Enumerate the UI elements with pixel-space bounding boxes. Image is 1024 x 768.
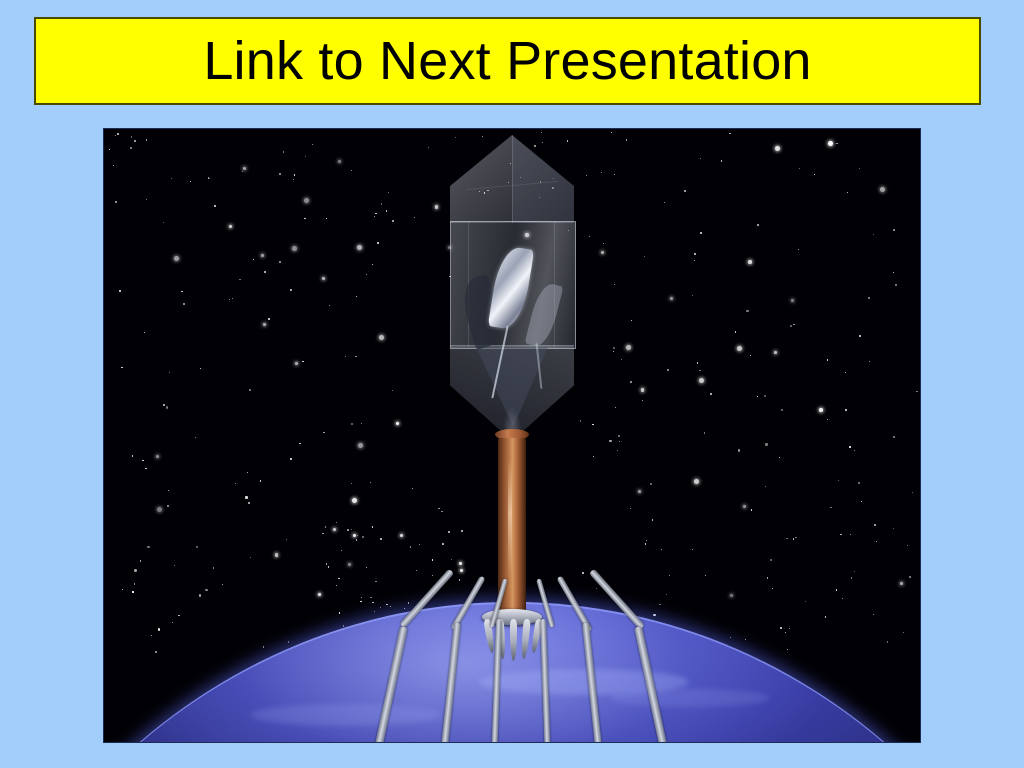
star: [765, 486, 766, 487]
phage-image[interactable]: [103, 128, 921, 743]
star: [586, 175, 587, 176]
star: [377, 242, 379, 244]
star: [842, 598, 843, 599]
star: [288, 641, 289, 642]
star: [646, 540, 647, 541]
star: [362, 536, 364, 538]
star: [356, 296, 357, 297]
star: [461, 530, 463, 532]
star: [907, 545, 908, 546]
star: [205, 589, 207, 591]
star: [115, 201, 117, 203]
star: [448, 531, 450, 533]
star: [268, 318, 270, 320]
star: [370, 597, 372, 599]
star: [242, 171, 243, 172]
star: [181, 291, 182, 292]
star: [428, 147, 429, 148]
star: [336, 585, 338, 587]
star: [328, 566, 330, 568]
star: [659, 604, 660, 605]
star: [396, 422, 399, 425]
star: [873, 614, 874, 615]
star: [869, 361, 870, 362]
star: [790, 325, 792, 327]
star: [664, 202, 665, 203]
star: [347, 529, 349, 531]
star: [361, 597, 363, 599]
star: [694, 479, 699, 484]
star: [171, 178, 172, 179]
star: [357, 245, 362, 250]
star: [596, 588, 597, 589]
star: [360, 601, 362, 603]
star: [912, 492, 913, 493]
star: [850, 534, 851, 535]
star: [174, 565, 175, 566]
star: [751, 509, 752, 510]
star: [767, 577, 768, 578]
star: [214, 205, 215, 206]
star: [338, 578, 340, 580]
star: [859, 335, 861, 337]
star: [825, 616, 826, 617]
star: [200, 368, 201, 369]
star: [617, 450, 618, 451]
star: [312, 144, 313, 145]
star: [386, 210, 387, 211]
star: [435, 205, 438, 208]
star: [861, 501, 862, 502]
star: [667, 369, 669, 371]
star: [293, 179, 294, 180]
star: [208, 177, 209, 178]
star: [750, 355, 751, 356]
star: [366, 274, 367, 275]
star: [626, 345, 631, 350]
star: [661, 549, 662, 550]
star: [167, 505, 169, 507]
star: [582, 572, 583, 573]
star: [374, 216, 375, 217]
star: [147, 546, 149, 548]
star: [145, 468, 146, 469]
star: [353, 534, 356, 537]
star: [764, 395, 766, 397]
star: [830, 507, 831, 508]
star: [793, 538, 794, 539]
star: [743, 505, 746, 508]
star: [134, 140, 136, 142]
star: [115, 135, 116, 136]
star: [326, 563, 328, 565]
star: [243, 167, 246, 170]
star: [836, 143, 837, 144]
star: [380, 607, 382, 609]
star: [589, 236, 590, 237]
star: [845, 409, 847, 411]
star: [386, 604, 388, 606]
star: [318, 593, 321, 596]
star: [705, 575, 706, 576]
star: [614, 284, 615, 285]
star: [229, 225, 232, 228]
star: [641, 388, 644, 391]
star: [352, 498, 357, 503]
star: [873, 234, 874, 235]
star: [355, 356, 356, 357]
star: [828, 141, 833, 146]
star: [132, 455, 133, 456]
star: [372, 602, 374, 604]
star: [432, 559, 434, 561]
star: [459, 579, 461, 581]
star: [827, 359, 828, 360]
star: [868, 297, 870, 299]
star: [895, 284, 897, 286]
star: [704, 432, 705, 433]
star: [348, 563, 351, 566]
star: [168, 490, 169, 491]
star: [630, 381, 632, 383]
star: [903, 632, 904, 633]
star: [694, 253, 696, 255]
star: [263, 646, 264, 647]
star: [404, 608, 406, 610]
star: [213, 567, 214, 568]
star: [264, 271, 266, 273]
star: [279, 261, 281, 263]
star: [774, 351, 777, 354]
star: [615, 407, 616, 408]
star: [748, 260, 751, 263]
star: [322, 277, 325, 280]
star: [611, 132, 612, 133]
capsid-edge: [450, 345, 574, 346]
star: [805, 601, 806, 602]
star: [195, 437, 196, 438]
star: [130, 147, 132, 149]
star: [757, 224, 759, 226]
star: [305, 156, 306, 157]
star: [366, 567, 368, 569]
star: [121, 367, 122, 368]
star: [874, 524, 875, 525]
star: [887, 641, 888, 642]
star: [183, 303, 185, 305]
star: [609, 440, 611, 442]
star: [374, 611, 376, 613]
star: [333, 528, 336, 531]
star: [279, 173, 281, 175]
star: [229, 299, 230, 300]
star: [642, 400, 643, 401]
star: [438, 508, 439, 509]
star: [372, 526, 374, 528]
star: [410, 546, 412, 548]
capsid-head: [450, 135, 574, 441]
star: [119, 290, 121, 292]
star: [653, 614, 655, 616]
star: [351, 529, 353, 531]
star: [699, 370, 700, 371]
star: [849, 446, 850, 447]
star: [155, 651, 157, 653]
star: [416, 570, 417, 571]
star: [190, 181, 191, 182]
star: [694, 260, 695, 261]
star: [700, 232, 702, 234]
star: [286, 539, 287, 540]
star: [144, 332, 145, 333]
star: [541, 132, 542, 133]
star: [893, 272, 894, 273]
star: [323, 432, 324, 433]
star: [601, 251, 604, 254]
star: [419, 544, 421, 546]
star: [854, 571, 855, 572]
star: [146, 199, 147, 200]
star: [735, 331, 736, 332]
star: [196, 546, 198, 548]
capsid-top-shade: [512, 135, 574, 223]
star: [109, 149, 110, 150]
star: [770, 559, 772, 561]
planet-streak: [251, 704, 441, 726]
star: [666, 594, 667, 595]
star: [357, 535, 359, 537]
star: [793, 324, 794, 325]
star: [893, 436, 895, 438]
star: [593, 456, 594, 457]
star: [787, 649, 788, 650]
star: [322, 533, 324, 535]
star: [836, 589, 837, 590]
star: [795, 537, 796, 538]
tail-sheath-highlight: [508, 459, 512, 579]
star: [166, 406, 168, 408]
star: [441, 511, 442, 512]
star: [847, 192, 848, 193]
star: [283, 151, 284, 152]
star: [621, 359, 622, 360]
star: [779, 457, 780, 458]
star: [781, 409, 783, 411]
star: [134, 583, 135, 584]
star: [249, 389, 251, 391]
star: [738, 449, 740, 451]
star: [381, 203, 382, 204]
star: [172, 622, 173, 623]
star: [329, 305, 330, 306]
star: [692, 295, 693, 296]
star: [618, 435, 620, 437]
star: [326, 218, 327, 219]
star: [650, 483, 652, 485]
star: [131, 136, 132, 137]
star: [631, 320, 632, 321]
title-banner[interactable]: Link to Next Presentation: [34, 17, 981, 105]
star: [845, 372, 846, 373]
star: [799, 168, 800, 169]
star: [721, 160, 722, 161]
star: [113, 165, 114, 166]
star: [375, 581, 377, 583]
star: [232, 298, 233, 299]
star: [757, 396, 758, 397]
star: [339, 612, 341, 614]
star: [158, 628, 160, 630]
star: [253, 259, 254, 260]
star: [638, 490, 641, 493]
star: [858, 482, 860, 484]
star: [275, 553, 278, 556]
star: [372, 264, 373, 265]
star: [156, 455, 159, 458]
star: [351, 423, 353, 425]
star: [880, 187, 885, 192]
star: [684, 190, 685, 191]
star: [370, 482, 371, 483]
star: [290, 458, 291, 459]
star: [248, 502, 250, 504]
star: [730, 637, 731, 638]
star: [414, 217, 415, 218]
star: [670, 297, 673, 300]
star: [789, 628, 790, 629]
star: [900, 582, 903, 585]
star: [151, 635, 152, 636]
star: [669, 575, 670, 576]
star: [876, 541, 877, 542]
star: [619, 441, 620, 442]
star: [361, 423, 362, 424]
star: [916, 391, 917, 392]
star: [786, 538, 787, 539]
star: [697, 362, 698, 363]
star: [798, 249, 799, 250]
star: [263, 323, 266, 326]
star: [765, 443, 767, 445]
star: [460, 569, 463, 572]
star: [772, 588, 773, 589]
star: [851, 577, 852, 578]
star: [626, 139, 627, 140]
star: [601, 172, 602, 173]
star: [827, 419, 828, 420]
star: [652, 519, 653, 520]
star: [299, 443, 300, 444]
star: [644, 256, 645, 257]
slide-canvas: Link to Next Presentation: [0, 0, 1024, 768]
star: [630, 508, 631, 509]
star: [247, 472, 248, 473]
star: [854, 450, 855, 451]
star: [400, 534, 403, 537]
star: [580, 420, 581, 421]
star: [178, 615, 179, 616]
star: [442, 543, 444, 545]
star: [451, 559, 453, 561]
star: [261, 254, 264, 257]
capsid-edge: [450, 221, 574, 222]
star: [295, 362, 298, 365]
star: [785, 632, 786, 633]
star: [325, 526, 327, 528]
star: [775, 146, 780, 151]
star: [132, 591, 133, 592]
star: [392, 390, 393, 391]
star: [336, 522, 337, 523]
star: [199, 594, 201, 596]
star: [614, 174, 615, 175]
star: [613, 351, 614, 352]
star: [432, 575, 434, 577]
star: [250, 557, 251, 558]
star: [838, 480, 839, 481]
star: [304, 198, 309, 203]
star: [392, 220, 394, 222]
star: [737, 346, 742, 351]
star: [388, 192, 389, 193]
star: [746, 310, 748, 312]
star: [292, 246, 297, 251]
star: [351, 170, 352, 171]
star: [351, 483, 352, 484]
star: [390, 606, 392, 608]
star: [341, 550, 342, 551]
star: [260, 480, 261, 481]
star: [338, 160, 341, 163]
star: [235, 483, 236, 484]
star: [157, 507, 162, 512]
star: [699, 378, 704, 383]
star: [893, 528, 894, 529]
star: [412, 488, 413, 489]
star: [814, 174, 815, 175]
star: [613, 347, 615, 349]
star: [859, 168, 860, 169]
star: [592, 424, 593, 425]
star: [304, 218, 305, 219]
star: [140, 560, 141, 561]
star: [909, 576, 911, 578]
star: [729, 133, 730, 134]
star: [358, 443, 363, 448]
star: [134, 569, 136, 571]
space-scene: [104, 129, 920, 742]
star: [893, 229, 895, 231]
star: [819, 408, 822, 411]
star: [791, 299, 794, 302]
star: [146, 139, 147, 140]
star: [239, 279, 240, 280]
star: [294, 174, 295, 175]
star: [745, 639, 746, 640]
star: [780, 627, 782, 629]
star: [169, 372, 170, 373]
star: [345, 356, 346, 357]
star: [603, 243, 604, 244]
star: [730, 594, 733, 597]
star: [163, 222, 164, 223]
star: [142, 460, 143, 461]
star: [459, 562, 462, 565]
capsid-edge: [512, 135, 513, 223]
star: [840, 534, 841, 535]
page-title: Link to Next Presentation: [203, 34, 811, 88]
star: [117, 133, 119, 135]
